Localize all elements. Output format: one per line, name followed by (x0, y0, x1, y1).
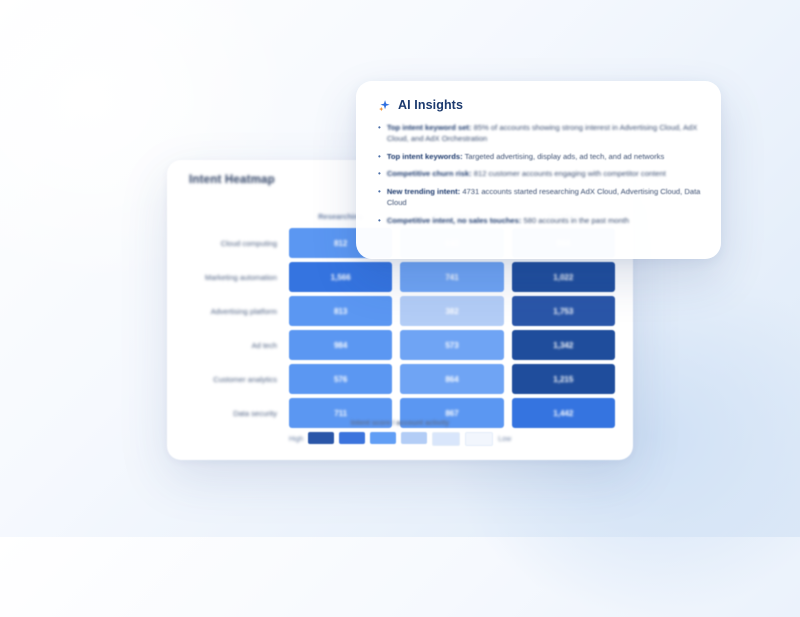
legend-swatch-1 (339, 432, 365, 444)
heatmap-cell[interactable]: 813 (289, 296, 392, 326)
heatmap-cell[interactable]: 382 (400, 296, 503, 326)
table-row: Customer analytics5768641,215 (181, 364, 619, 394)
ai-insight-text: Top intent keyword set: 85% of accounts … (387, 123, 701, 145)
ai-insights-title: AI Insights (398, 98, 463, 112)
bullet-icon: • (378, 169, 381, 180)
ai-insights-list: •Top intent keyword set: 85% of accounts… (378, 123, 701, 226)
heatmap-cell[interactable]: 1,566 (289, 262, 392, 292)
ai-insight-item: •Top intent keywords: Targeted advertisi… (378, 152, 701, 163)
legend-scale: High Low (167, 432, 633, 446)
bullet-icon: • (378, 187, 381, 209)
heatmap-row-label-2: Advertising platform (181, 307, 285, 316)
legend-low-label: Low (498, 436, 511, 443)
heatmap-row-label-5: Data security (181, 409, 285, 418)
ai-insight-text: Top intent keywords: Targeted advertisin… (387, 152, 664, 163)
legend-swatch-2 (370, 432, 396, 444)
ai-insights-panel[interactable]: AI Insights •Top intent keyword set: 85%… (356, 81, 721, 259)
heatmap-row-label-3: Ad tech (181, 341, 285, 350)
table-row: Ad tech9845731,342 (181, 330, 619, 360)
heatmap-cell[interactable]: 1,342 (512, 330, 615, 360)
legend-swatch-0 (308, 432, 334, 444)
heatmap-row-label-0: Cloud computing (181, 239, 285, 248)
heatmap-cell[interactable]: 1,022 (512, 262, 615, 292)
ai-insight-item: •Competitive churn risk: 812 customer ac… (378, 169, 701, 180)
heatmap-cell[interactable]: 864 (400, 364, 503, 394)
ai-insight-text: Competitive intent, no sales touches: 58… (387, 216, 629, 227)
bullet-icon: • (378, 216, 381, 227)
ai-insight-item: •Top intent keyword set: 85% of accounts… (378, 123, 701, 145)
table-row: Marketing automation1,5667411,022 (181, 262, 619, 292)
heatmap-cell[interactable]: 741 (400, 262, 503, 292)
sparkle-icon (378, 99, 391, 112)
ai-insight-item: •New trending intent: 4731 accounts star… (378, 187, 701, 209)
ai-insight-item: •Competitive intent, no sales touches: 5… (378, 216, 701, 227)
page-title: Intent Heatmap (189, 174, 275, 186)
table-row: Advertising platform8133821,753 (181, 296, 619, 326)
legend-swatches (308, 432, 493, 446)
ai-insight-text: Competitive churn risk: 812 customer acc… (387, 169, 666, 180)
heatmap-cell[interactable]: 1,215 (512, 364, 615, 394)
legend-high-label: High (289, 436, 303, 443)
legend-swatch-5 (465, 432, 493, 446)
heatmap-cell[interactable]: 573 (400, 330, 503, 360)
heatmap-cell[interactable]: 576 (289, 364, 392, 394)
heatmap-cell[interactable]: 1,753 (512, 296, 615, 326)
ai-insights-header: AI Insights (378, 98, 701, 112)
bullet-icon: • (378, 123, 381, 145)
legend-swatch-4 (432, 432, 460, 446)
ai-insight-text: New trending intent: 4731 accounts start… (387, 187, 701, 209)
heatmap-legend: Intent score / account activity High Low (167, 420, 633, 446)
heatmap-cell[interactable]: 984 (289, 330, 392, 360)
heatmap-row-label-1: Marketing automation (181, 273, 285, 282)
legend-swatch-3 (401, 432, 427, 444)
heatmap-row-label-4: Customer analytics (181, 375, 285, 384)
legend-title: Intent score / account activity (167, 420, 633, 427)
bullet-icon: • (378, 152, 381, 163)
